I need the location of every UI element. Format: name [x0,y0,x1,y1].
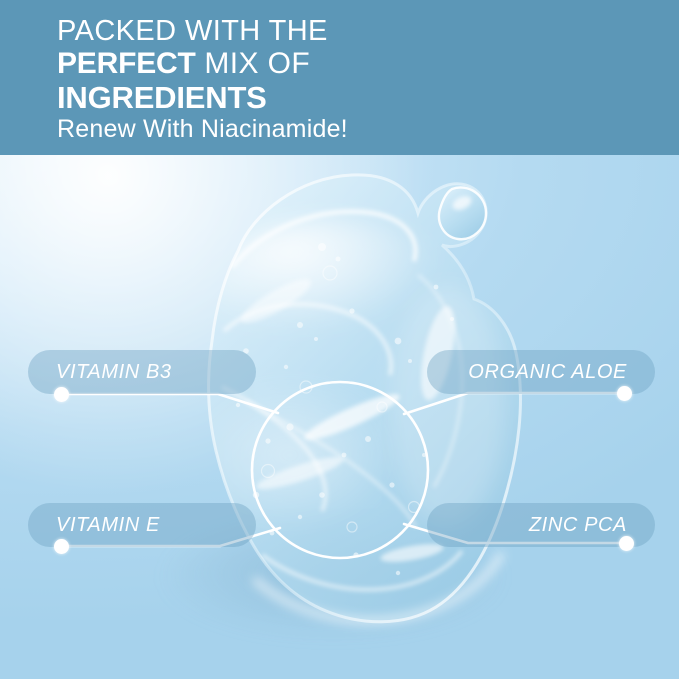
callout-label-vitamin-e: VITAMIN E [56,514,160,537]
product-photo-stage [0,155,679,679]
gel-swatch-image [0,155,679,679]
callout-vitamin-b3[interactable]: VITAMIN B3 [28,350,256,394]
callout-organic-aloe[interactable]: ORGANIC ALOE [427,350,655,394]
headline-perfect: PERFECT [57,47,196,80]
callout-label-zinc-pca: ZINC PCA [529,514,627,537]
header-band: PACKED WITH THE PERFECT MIX OF INGREDIEN… [0,0,679,155]
headline-block: PACKED WITH THE PERFECT MIX OF INGREDIEN… [57,17,348,142]
callout-zinc-pca[interactable]: ZINC PCA [427,503,655,547]
headline-mix-of: MIX OF [196,47,310,80]
callout-label-organic-aloe: ORGANIC ALOE [468,361,627,384]
headline-line-3: INGREDIENTS [57,82,348,113]
headline-line-2: PERFECT MIX OF [57,49,348,79]
headline-subline: Renew With Niacinamide! [57,117,348,142]
headline-line-1: PACKED WITH THE [57,17,348,46]
callout-vitamin-e[interactable]: VITAMIN E [28,503,256,547]
infographic-canvas: PACKED WITH THE PERFECT MIX OF INGREDIEN… [0,0,679,679]
gel-swatch-svg [0,155,679,679]
callout-label-vitamin-b3: VITAMIN B3 [56,361,172,384]
gel-droplet [439,187,486,239]
